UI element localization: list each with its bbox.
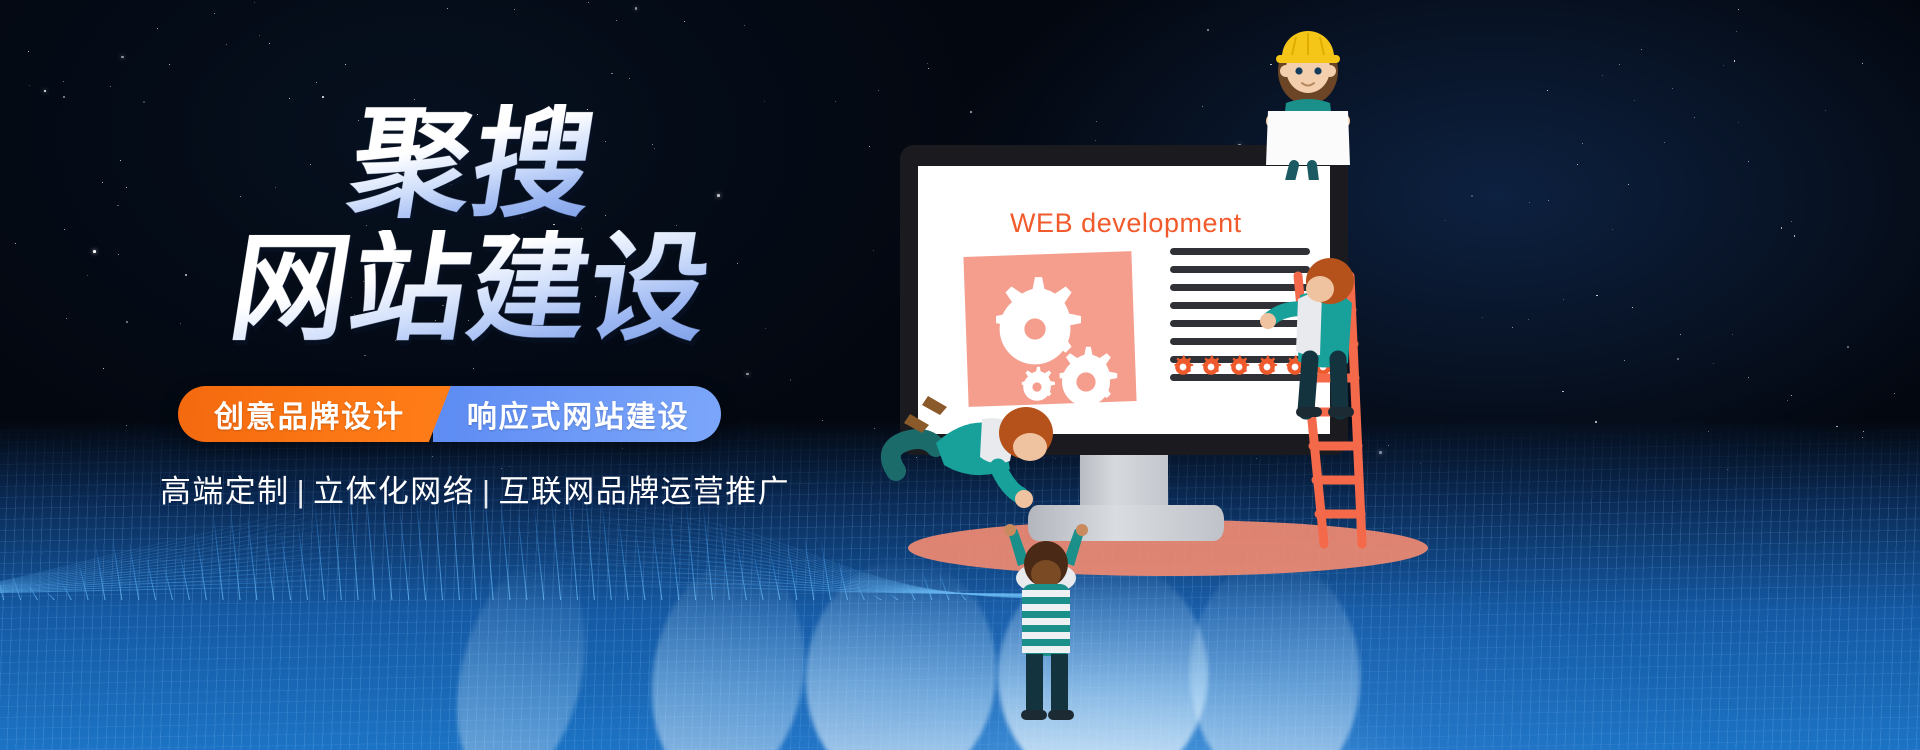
mini-gear-icon (1226, 354, 1252, 380)
illustration-monitor-scene: WEB development (880, 0, 1920, 750)
tagline: 高端定制|立体化网络|互联网品牌运营推广 (160, 466, 790, 511)
mini-gear-icon (1170, 354, 1196, 380)
tagline-part-3: 互联网品牌运营推广 (498, 474, 790, 509)
screen-text-line (1170, 248, 1310, 255)
pill-left-label: 创意品牌设计 (214, 392, 405, 436)
pill-segment-responsive-site[interactable]: 响应式网站建设 (433, 386, 722, 442)
hero-banner: 聚搜 网站建设 创意品牌设计 响应式网站建设 高端定制|立体化网络|互联网品牌运… (0, 0, 1920, 750)
character-hanging-developer (878, 381, 1118, 531)
headline-secondary: 网站建设 (223, 230, 718, 348)
pill-right-label: 响应式网站建设 (467, 392, 690, 436)
screen-title: WEB development (1010, 208, 1242, 239)
mini-gear-icon (1198, 354, 1224, 380)
tagline-separator-1: | (290, 474, 313, 509)
tagline-separator-2: | (475, 474, 498, 509)
character-worker-on-ladder (1258, 255, 1378, 425)
character-kid-holding-card (996, 524, 1102, 724)
copy-block: 聚搜 网站建设 创意品牌设计 响应式网站建设 高端定制|立体化网络|互联网品牌运… (0, 0, 900, 750)
headline-primary: 聚搜 (342, 104, 603, 224)
pill-segment-brand-design[interactable]: 创意品牌设计 (178, 386, 451, 442)
tagline-part-1: 高端定制 (160, 474, 290, 509)
tagline-part-2: 立体化网络 (313, 474, 475, 509)
character-engineer-with-blueprint (1238, 25, 1378, 180)
service-pill[interactable]: 创意品牌设计 响应式网站建设 (178, 386, 721, 442)
